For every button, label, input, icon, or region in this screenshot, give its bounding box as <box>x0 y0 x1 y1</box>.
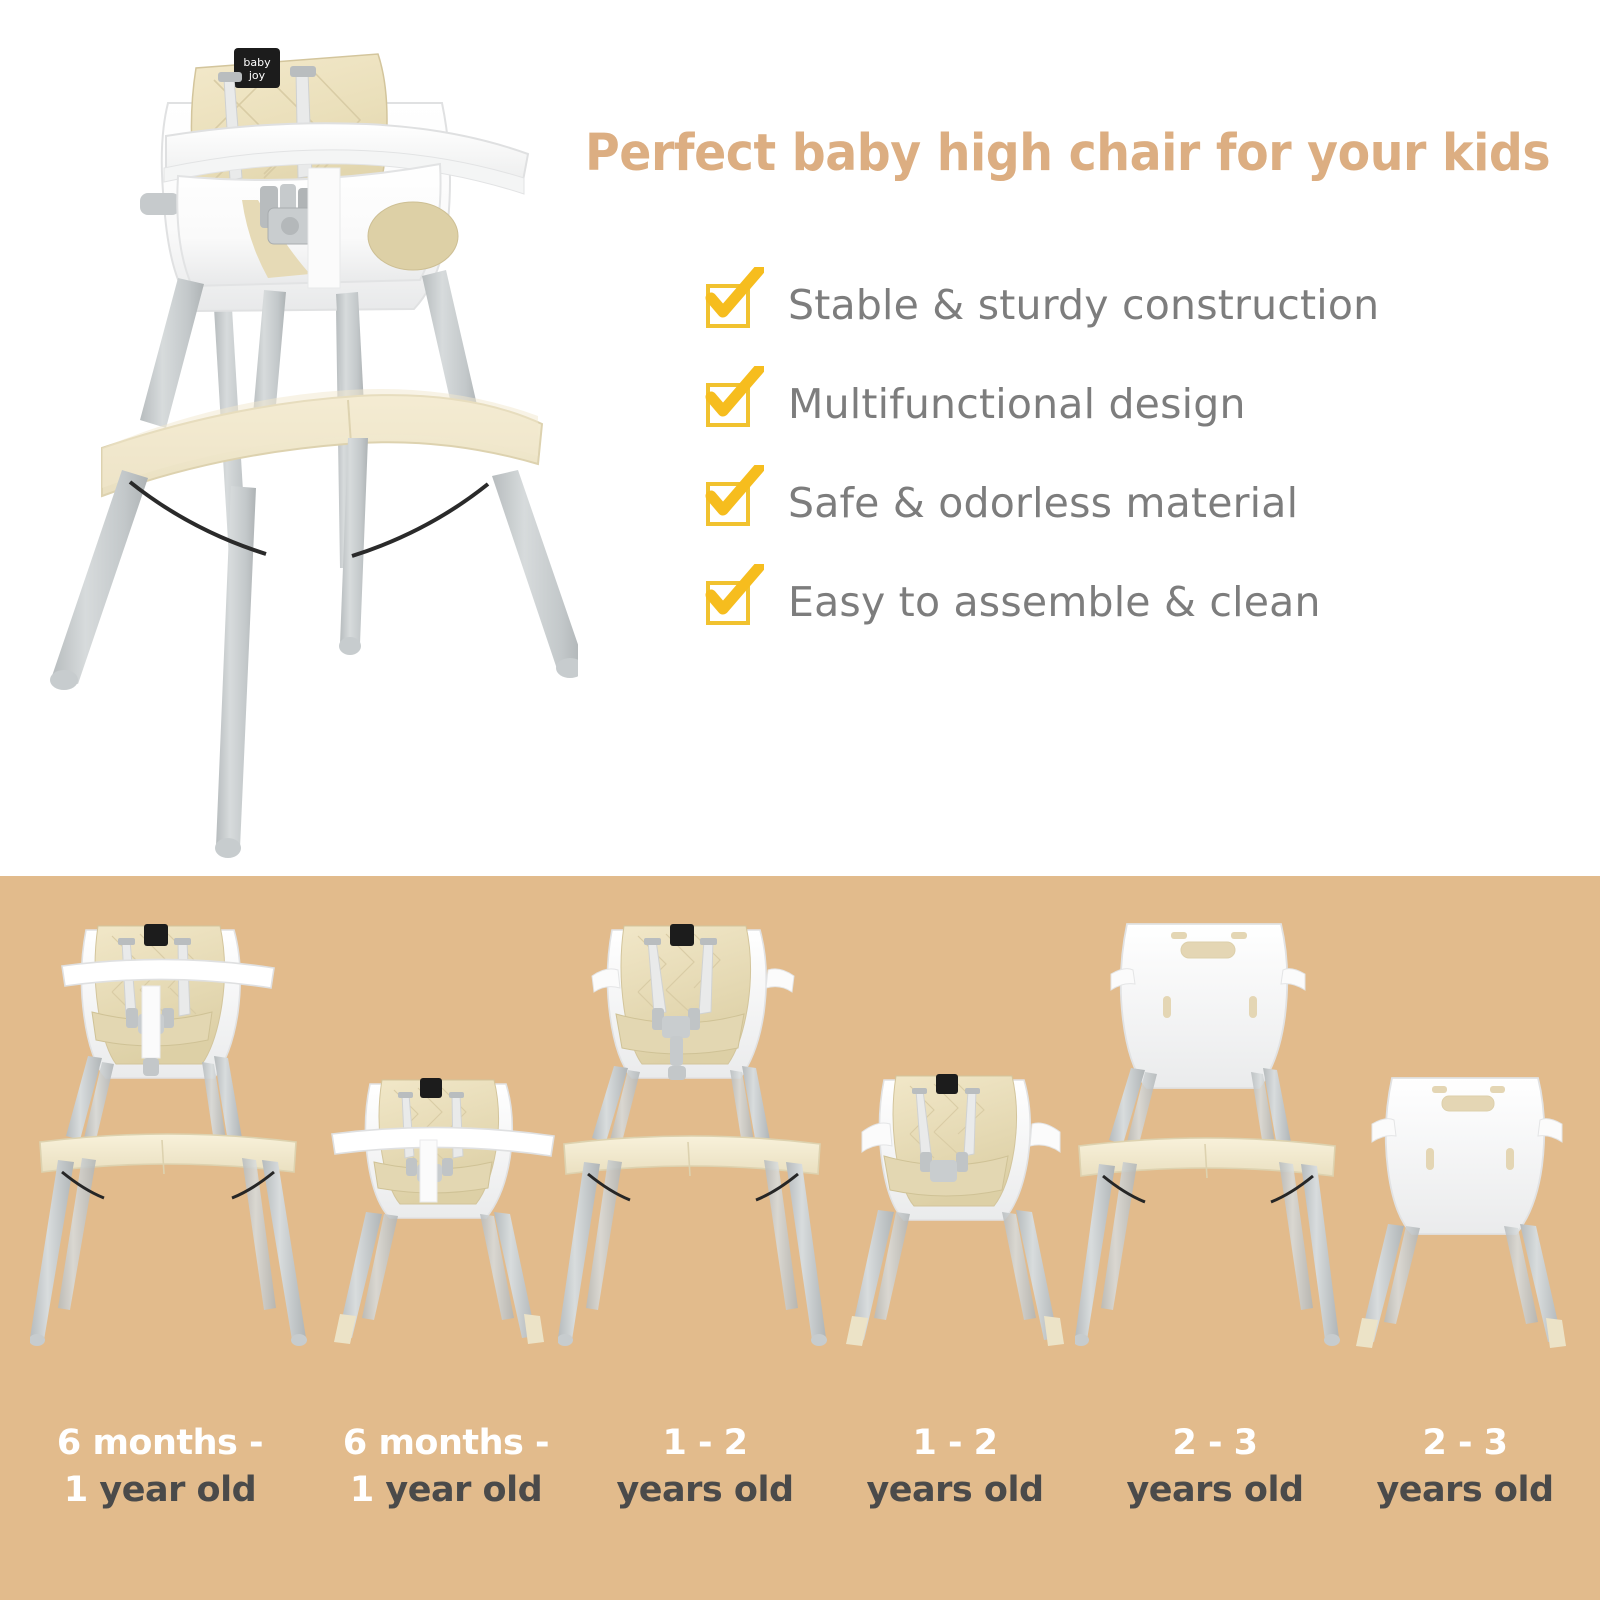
hero-legs-lower <box>52 438 578 848</box>
hero-foot-caps <box>50 637 578 858</box>
variant-unit-number: 1 <box>64 1470 88 1510</box>
checkbox-checked-icon <box>700 374 762 434</box>
armrest-right <box>1030 1123 1060 1152</box>
feature-item-2: Safe & odorless material <box>700 453 1590 552</box>
feature-label: Multifunctional design <box>788 380 1246 428</box>
variant-label-1: 6 months - 1 year old <box>306 1420 586 1514</box>
brand-tag <box>420 1078 442 1098</box>
handle-slot <box>1181 942 1235 958</box>
variant-label-2: 1 - 2 years old <box>580 1420 830 1514</box>
feature-label: Stable & sturdy construction <box>788 281 1379 329</box>
variant-age: 2 - 3 <box>1422 1423 1507 1463</box>
brand-tag <box>144 924 168 946</box>
variant-label-5: 2 - 3 years old <box>1340 1420 1590 1514</box>
variant-unit: years old <box>1376 1470 1553 1510</box>
feature-label: Safe & odorless material <box>788 479 1298 527</box>
variant-low-chair-cushion-short <box>836 1052 1086 1362</box>
variant-unit: years old <box>866 1470 1043 1510</box>
armrest-right <box>766 969 794 992</box>
top-section: baby joy <box>0 0 1600 876</box>
svg-text:baby: baby <box>243 56 271 69</box>
variant-booster-chair-with-tray-short <box>318 1052 568 1362</box>
variant-high-chair-no-tray-tall <box>558 890 828 1360</box>
variant-high-chair-with-tray-tall <box>30 890 310 1360</box>
variant-age: 6 months - <box>57 1423 263 1463</box>
brand-tag <box>670 924 694 946</box>
variant-age: 2 - 3 <box>1172 1423 1257 1463</box>
variant-age: 1 - 2 <box>662 1423 747 1463</box>
variant-high-chair-bare-shell-tall <box>1075 890 1340 1360</box>
brand-tag <box>936 1074 958 1094</box>
variant-label-0: 6 months - 1 year old <box>20 1420 300 1514</box>
page-headline: Perfect baby high chair for your kids <box>585 118 1524 190</box>
variant-unit: years old <box>616 1470 793 1510</box>
hero-seat-base <box>177 164 458 288</box>
hero-product-image: baby joy <box>18 8 578 868</box>
hero-braces <box>130 482 488 556</box>
variant-unit: year old <box>88 1470 256 1510</box>
variant-unit-number: 1 <box>350 1470 374 1510</box>
checkbox-checked-icon <box>700 473 762 533</box>
variant-low-chair-bare-shell-short <box>1340 1052 1590 1362</box>
variants-section: 6 months - 1 year old <box>0 876 1600 1600</box>
svg-text:joy: joy <box>248 69 266 82</box>
variant-label-3: 1 - 2 years old <box>830 1420 1080 1514</box>
handle-slot <box>1442 1096 1494 1111</box>
feature-item-0: Stable & sturdy construction <box>700 255 1590 354</box>
feature-list: Stable & sturdy construction Multifuncti… <box>700 255 1590 651</box>
variant-unit: years old <box>1126 1470 1303 1510</box>
feature-item-1: Multifunctional design <box>700 354 1590 453</box>
variant-age: 6 months - <box>343 1423 549 1463</box>
brand-tag: baby joy <box>234 48 280 88</box>
variant-label-4: 2 - 3 years old <box>1090 1420 1340 1514</box>
variant-age: 1 - 2 <box>912 1423 997 1463</box>
checkbox-checked-icon <box>700 572 762 632</box>
checkbox-checked-icon <box>700 275 762 335</box>
feature-item-3: Easy to assemble & clean <box>700 552 1590 651</box>
variant-unit: year old <box>374 1470 542 1510</box>
feature-label: Easy to assemble & clean <box>788 578 1321 626</box>
